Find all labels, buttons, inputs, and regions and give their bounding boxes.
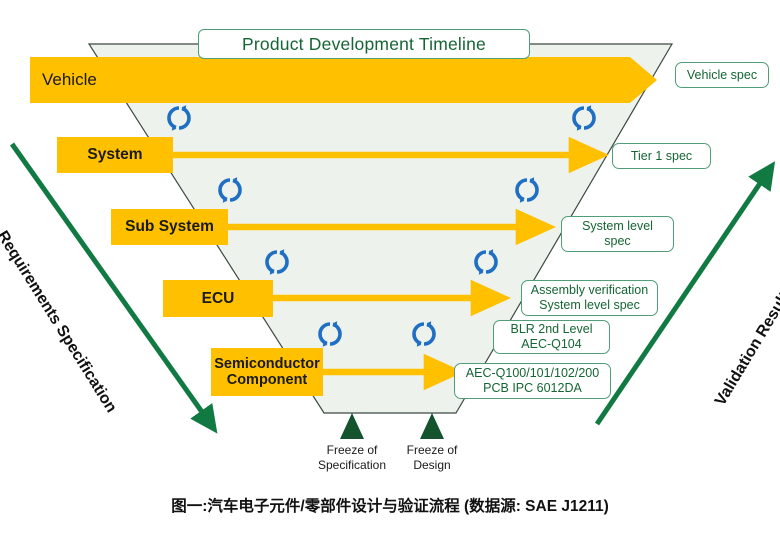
- spec-box-system-level-spec[interactable]: System level spec: [561, 216, 674, 252]
- page-title: Product Development Timeline: [198, 29, 530, 59]
- stage-label-system[interactable]: System: [57, 137, 173, 173]
- spec-box-tier-1-spec[interactable]: Tier 1 spec: [612, 143, 711, 169]
- stage-label-semiconductor[interactable]: Semiconductor Component: [211, 348, 323, 396]
- diagram-canvas: Product Development Timeline Vehicle Sys…: [0, 0, 780, 535]
- figure-caption: 图一:汽车电子元件/零部件设计与验证流程 (数据源: SAE J1211): [0, 494, 780, 516]
- freeze-of-specification-triangle: [340, 413, 364, 439]
- spec-box-blr-2nd-level[interactable]: BLR 2nd Level AEC-Q104: [493, 320, 610, 354]
- stage-label-vehicle[interactable]: Vehicle: [30, 57, 252, 103]
- spec-box-assembly-verification[interactable]: Assembly verification System level spec: [521, 280, 658, 316]
- stage-label-ecu[interactable]: ECU: [163, 280, 273, 317]
- freeze-of-design-label: Freeze of Design: [384, 443, 480, 473]
- spec-box-aec-pcb[interactable]: AEC-Q100/101/102/200 PCB IPC 6012DA: [454, 363, 611, 399]
- spec-box-vehicle-spec[interactable]: Vehicle spec: [675, 62, 769, 88]
- stage-label-sub-system[interactable]: Sub System: [111, 209, 228, 245]
- freeze-of-design-triangle: [420, 413, 444, 439]
